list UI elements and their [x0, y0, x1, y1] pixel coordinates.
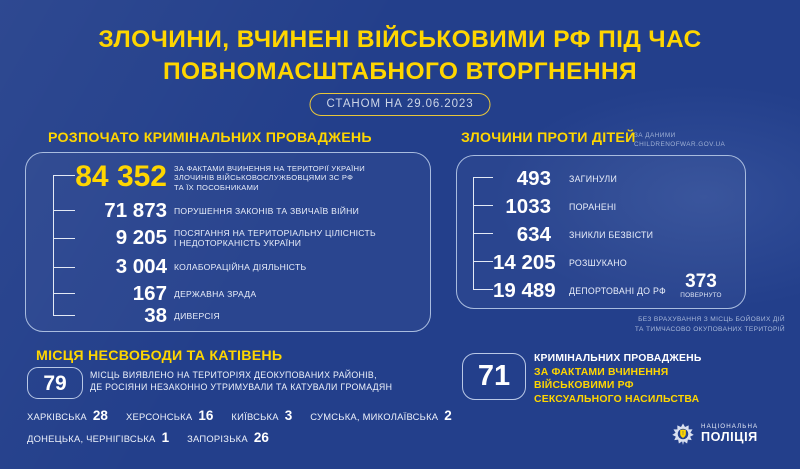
bracket-tick: [473, 205, 493, 206]
returned-children-value: 373: [676, 272, 726, 291]
metric-description: КОЛАБОРАЦІЙНА ДІЯЛЬНІСТЬ: [174, 257, 306, 272]
children-footnote-line: БЕЗ ВРАХУВАННЯ З МІСЦЬ БОЙОВИХ ДІЙ: [545, 315, 785, 325]
bracket-tick: [53, 315, 75, 316]
metric-description-line: І НЕДОТОРКАНІСТЬ УКРАЇНИ: [174, 238, 376, 248]
region-name: ЗАПОРІЗЬКА: [187, 433, 248, 444]
metric-value: 71 873: [75, 201, 167, 222]
source-attribution: ЗА ДАНИМИ CHILDRENOFWAR.GOV.UA: [634, 131, 725, 150]
places-count-badge: 79: [27, 367, 83, 399]
metric-description: ДЕРЖАВНА ЗРАДА: [174, 284, 256, 299]
bracket-tick: [53, 293, 75, 294]
region-item: ДОНЕЦЬКА, ЧЕРНІГІВСЬКА 1: [27, 430, 169, 445]
metric-row: 634 ЗНИКЛИ БЕЗВІСТИ: [493, 225, 743, 246]
date-badge: СТАНОМ НА 29.06.2023: [310, 93, 491, 116]
sexual-violence-line: СЕКСУАЛЬНОГО НАСИЛЬСТВА: [534, 393, 784, 407]
bracket-tick: [473, 233, 493, 234]
infographic-root: ЗЛОЧИНИ, ВЧИНЕНІ ВІЙСЬКОВИМИ РФ ПІД ЧАС …: [0, 0, 800, 469]
metric-description-line: ПОРУШЕННЯ ЗАКОНІВ ТА ЗВИЧАЇВ ВІЙНИ: [174, 206, 359, 216]
metric-description-line: ПОСЯГАННЯ НА ТЕРИТОРІАЛЬНУ ЦІЛІСНІСТЬ: [174, 228, 376, 238]
regions-row: ДОНЕЦЬКА, ЧЕРНІГІВСЬКА 1 ЗАПОРІЗЬКА 26: [27, 430, 269, 445]
bracket-tick: [53, 238, 75, 239]
bracket-tick: [473, 261, 493, 262]
children-bracket: [473, 177, 493, 289]
region-item: ЗАПОРІЗЬКА 26: [187, 430, 269, 445]
places-description: МІСЦЬ ВИЯВЛЕНО НА ТЕРИТОРІЯХ ДЕОКУПОВАНИ…: [90, 369, 440, 394]
children-footnote: БЕЗ ВРАХУВАННЯ З МІСЦЬ БОЙОВИХ ДІЙ ТА ТИ…: [545, 315, 785, 335]
metric-row: 71 873 ПОРУШЕННЯ ЗАКОНІВ ТА ЗВИЧАЇВ ВІЙН…: [75, 201, 420, 222]
sexual-violence-count-badge: 71: [462, 353, 526, 400]
region-item: СУМСЬКА, МИКОЛАЇВСЬКА 2: [310, 408, 452, 423]
region-name: ХАРКІВСЬКА: [27, 411, 87, 422]
source-attribution-line: ЗА ДАНИМИ: [634, 131, 725, 140]
police-logo-line-2: ПОЛІЦІЯ: [701, 431, 758, 444]
metric-row: 3 004 КОЛАБОРАЦІЙНА ДІЯЛЬНІСТЬ: [75, 257, 420, 278]
regions-row: ХАРКІВСЬКА 28 ХЕРСОНСЬКА 16 КИЇВСЬКА 3 С…: [27, 408, 452, 423]
metric-description: ПОСЯГАННЯ НА ТЕРИТОРІАЛЬНУ ЦІЛІСНІСТЬ І …: [174, 228, 376, 249]
section-heading-criminal-proceedings: РОЗПОЧАТО КРИМІНАЛЬНИХ ПРОВАДЖЕНЬ: [48, 130, 372, 146]
region-value: 3: [285, 408, 293, 423]
police-logo-text: НАЦІОНАЛЬНА ПОЛІЦІЯ: [701, 424, 758, 443]
metric-row: 84 352 ЗА ФАКТАМИ ВЧИНЕННЯ НА ТЕРИТОРІЇ …: [75, 162, 420, 192]
returned-children-label: ПОВЕРНУТО: [676, 292, 726, 299]
metric-description: ПОРАНЕНІ: [569, 197, 616, 213]
section-heading-crimes-against-children: ЗЛОЧИНИ ПРОТИ ДІТЕЙ: [461, 130, 636, 146]
metric-description-line: ЗЛОЧИНІВ ВІЙСЬКОВОСЛУЖБОВЦЯМИ ЗС РФ: [174, 173, 365, 182]
metric-row: 1033 ПОРАНЕНІ: [493, 197, 743, 218]
metric-description: РОЗШУКАНО: [569, 253, 627, 269]
metric-row: 167 ДЕРЖАВНА ЗРАДА: [75, 284, 420, 305]
metric-description-line: КОЛАБОРАЦІЙНА ДІЯЛЬНІСТЬ: [174, 262, 306, 272]
metric-description-line: ТА ЇХ ПОСОБНИКАМИ: [174, 183, 365, 192]
region-value: 26: [254, 430, 269, 445]
metric-value: 167: [75, 284, 167, 305]
region-item: ХАРКІВСЬКА 28: [27, 408, 108, 423]
region-name: КИЇВСЬКА: [231, 411, 278, 422]
metric-value: 38: [75, 306, 167, 327]
region-name: ДОНЕЦЬКА, ЧЕРНІГІВСЬКА: [27, 433, 156, 444]
criminal-proceedings-bracket: [53, 175, 75, 315]
metric-description-line: ЗА ФАКТАМИ ВЧИНЕННЯ НА ТЕРИТОРІЇ УКРАЇНИ: [174, 164, 365, 173]
sexual-violence-line: ЗА ФАКТАМИ ВЧИНЕННЯ: [534, 366, 784, 380]
metric-description: ДЕПОРТОВАНІ ДО РФ: [569, 281, 666, 297]
police-star-badge-icon: [672, 423, 694, 445]
sexual-violence-line: ВІЙСЬКОВИМИ РФ: [534, 379, 784, 393]
metric-description-line: ДИВЕРСІЯ: [174, 311, 220, 321]
metric-row: 493 ЗАГИНУЛИ: [493, 169, 743, 190]
metric-description: ЗАГИНУЛИ: [569, 169, 617, 185]
sexual-violence-line: КРИМІНАЛЬНИХ ПРОВАДЖЕНЬ: [534, 352, 784, 366]
metric-description: ДИВЕРСІЯ: [174, 306, 220, 321]
metric-description: ПОРУШЕННЯ ЗАКОНІВ ТА ЗВИЧАЇВ ВІЙНИ: [174, 201, 359, 216]
region-item: ХЕРСОНСЬКА 16: [126, 408, 213, 423]
region-value: 28: [93, 408, 108, 423]
metric-value: 493: [493, 169, 551, 190]
region-value: 2: [444, 408, 452, 423]
source-attribution-line: CHILDRENOFWAR.GOV.UA: [634, 140, 725, 149]
children-footnote-line: ТА ТИМЧАСОВО ОКУПОВАНИХ ТЕРИТОРІЙ: [545, 325, 785, 335]
metric-value: 1033: [493, 197, 551, 218]
region-item: КИЇВСЬКА 3: [231, 408, 292, 423]
bracket-tick: [53, 210, 75, 211]
sexual-violence-description: КРИМІНАЛЬНИХ ПРОВАДЖЕНЬ ЗА ФАКТАМИ ВЧИНЕ…: [534, 352, 784, 407]
bracket-tick: [473, 177, 493, 178]
metric-value: 19 489: [493, 281, 551, 302]
metric-row: 38 ДИВЕРСІЯ: [75, 306, 420, 327]
bracket-tick: [473, 289, 493, 290]
region-name: СУМСЬКА, МИКОЛАЇВСЬКА: [310, 411, 438, 422]
metric-description: ЗНИКЛИ БЕЗВІСТИ: [569, 225, 653, 241]
metric-value: 9 205: [75, 228, 167, 249]
page-title: ЗЛОЧИНИ, ВЧИНЕНІ ВІЙСЬКОВИМИ РФ ПІД ЧАС …: [0, 24, 800, 88]
bracket-tick: [53, 267, 75, 268]
national-police-logo: НАЦІОНАЛЬНА ПОЛІЦІЯ: [672, 423, 758, 445]
metric-value: 3 004: [75, 257, 167, 278]
region-name: ХЕРСОНСЬКА: [126, 411, 192, 422]
bracket-tick: [53, 175, 75, 176]
metric-description-line: ДЕРЖАВНА ЗРАДА: [174, 289, 256, 299]
metric-value: 14 205: [493, 253, 551, 274]
page-title-line-1: ЗЛОЧИНИ, ВЧИНЕНІ ВІЙСЬКОВИМИ РФ ПІД ЧАС: [0, 24, 800, 56]
places-description-line: ДЕ РОСІЯНИ НЕЗАКОННО УТРИМУВАЛИ ТА КАТУВ…: [90, 381, 440, 393]
metric-description: ЗА ФАКТАМИ ВЧИНЕННЯ НА ТЕРИТОРІЇ УКРАЇНИ…: [174, 162, 365, 192]
metric-value: 84 352: [75, 162, 167, 192]
page-title-line-2: ПОВНОМАСШТАБНОГО ВТОРГНЕННЯ: [0, 56, 800, 88]
region-value: 1: [162, 430, 170, 445]
section-heading-places-of-detention: МІСЦЯ НЕСВОБОДИ ТА КАТІВЕНЬ: [36, 348, 282, 364]
places-description-line: МІСЦЬ ВИЯВЛЕНО НА ТЕРИТОРІЯХ ДЕОКУПОВАНИ…: [90, 369, 440, 381]
metric-value: 634: [493, 225, 551, 246]
region-value: 16: [198, 408, 213, 423]
metric-row: 9 205 ПОСЯГАННЯ НА ТЕРИТОРІАЛЬНУ ЦІЛІСНІ…: [75, 228, 420, 249]
